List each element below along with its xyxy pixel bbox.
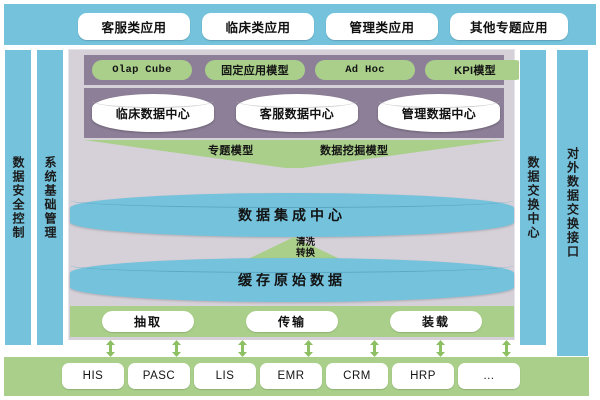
data-center-0[interactable]: 临床数据中心	[92, 94, 214, 132]
etl-item-2[interactable]: 装载	[390, 311, 482, 332]
data-center-2[interactable]: 管理数据中心	[378, 94, 500, 132]
model-item-label: 固定应用模型	[221, 62, 289, 78]
source-system-label: HIS	[83, 370, 104, 382]
model-item-2[interactable]: Ad Hoc	[315, 60, 415, 80]
model-funnel: 专题模型 数据挖掘模型	[84, 140, 504, 168]
model-item-label: Ad Hoc	[345, 64, 385, 76]
application-layer-band: 客服类应用 临床类应用 管理类应用 其他专题应用	[4, 4, 596, 45]
source-system-label: CRM	[343, 370, 371, 382]
application-item-2[interactable]: 管理类应用	[326, 13, 438, 40]
source-system-label: EMR	[277, 370, 304, 382]
source-system-label: …	[483, 370, 495, 382]
model-item-1[interactable]: 固定应用模型	[205, 60, 305, 80]
source-system-6[interactable]: …	[458, 363, 520, 389]
cache-raw-data-label: 缓存原始数据	[70, 258, 514, 302]
sidebar-label: 对外数据交换接口	[567, 147, 579, 259]
sidebar-data-security-control[interactable]: 数据安全控制	[4, 49, 32, 346]
sidebar-label: 数据安全控制	[12, 156, 24, 240]
data-center-label: 临床数据中心	[92, 94, 214, 132]
funnel-label-1: 数据挖掘模型	[320, 142, 388, 158]
application-item-label: 临床类应用	[225, 17, 290, 36]
sidebar-data-exchange-center[interactable]: 数据交换中心	[519, 49, 547, 346]
source-connector-gap	[68, 340, 548, 357]
data-integration-center-label: 数据集成中心	[70, 193, 514, 237]
etl-item-label: 抽取	[134, 313, 162, 330]
funnel-label-0: 专题模型	[208, 142, 254, 158]
cache-raw-data[interactable]: 缓存原始数据	[70, 258, 514, 302]
double-arrow-icon	[106, 340, 115, 357]
transform-label-line1: 清洗	[296, 237, 315, 248]
data-center-label: 客服数据中心	[236, 94, 358, 132]
application-item-3[interactable]: 其他专题应用	[450, 13, 568, 40]
source-system-label: HRP	[410, 370, 436, 382]
etl-item-label: 装载	[422, 313, 450, 330]
source-system-0[interactable]: HIS	[62, 363, 124, 389]
source-system-band: HIS PASC LIS EMR CRM HRP …	[4, 357, 589, 396]
source-system-3[interactable]: EMR	[260, 363, 322, 389]
model-item-3[interactable]: KPI模型	[425, 60, 525, 80]
data-integration-center[interactable]: 数据集成中心	[70, 193, 514, 237]
double-arrow-icon	[370, 340, 379, 357]
source-system-2[interactable]: LIS	[194, 363, 256, 389]
model-item-label: Olap Cube	[112, 64, 171, 76]
application-item-0[interactable]: 客服类应用	[78, 13, 190, 40]
application-item-label: 其他专题应用	[470, 17, 548, 36]
double-arrow-icon	[502, 340, 511, 357]
etl-band: 抽取 传输 装载	[70, 306, 514, 337]
architecture-diagram: 客服类应用 临床类应用 管理类应用 其他专题应用 数据安全控制 系统基础管理 O…	[0, 0, 600, 400]
source-system-label: PASC	[143, 370, 175, 382]
application-item-label: 客服类应用	[101, 17, 166, 36]
double-arrow-icon	[238, 340, 247, 357]
source-system-label: LIS	[216, 370, 235, 382]
analytic-model-band: Olap Cube 固定应用模型 Ad Hoc KPI模型	[84, 55, 504, 85]
sidebar-label: 数据交换中心	[527, 156, 539, 240]
sidebar-label: 系统基础管理	[44, 156, 56, 240]
double-arrow-icon	[436, 340, 445, 357]
sidebar-system-base-management[interactable]: 系统基础管理	[36, 49, 64, 346]
data-center-1[interactable]: 客服数据中心	[236, 94, 358, 132]
etl-item-label: 传输	[278, 313, 306, 330]
source-system-5[interactable]: HRP	[392, 363, 454, 389]
etl-item-0[interactable]: 抽取	[102, 311, 194, 332]
source-system-4[interactable]: CRM	[326, 363, 388, 389]
data-center-label: 管理数据中心	[378, 94, 500, 132]
application-item-1[interactable]: 临床类应用	[202, 13, 314, 40]
data-center-band: 临床数据中心 客服数据中心 管理数据中心	[84, 88, 504, 138]
funnel-shape	[84, 140, 504, 168]
model-item-label: KPI模型	[454, 62, 496, 78]
sidebar-external-exchange-interface[interactable]: 对外数据交换接口	[556, 49, 589, 357]
etl-item-1[interactable]: 传输	[246, 311, 338, 332]
model-item-0[interactable]: Olap Cube	[92, 60, 192, 80]
double-arrow-icon	[304, 340, 313, 357]
source-system-1[interactable]: PASC	[128, 363, 190, 389]
application-item-label: 管理类应用	[349, 17, 414, 36]
double-arrow-icon	[172, 340, 181, 357]
